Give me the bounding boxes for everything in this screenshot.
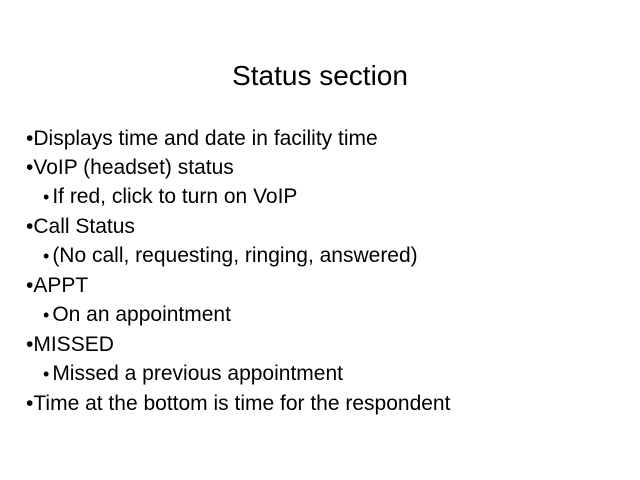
list-item-label: On an appointment [52,303,231,326]
list-item-label: (No call, requesting, ringing, answered) [52,244,417,267]
list-item: •Call Status [0,212,640,241]
bullet-dot-icon: • [43,301,49,330]
list-item: •On an appointment [0,300,640,330]
list-item-label: Displays time and date in facility time [33,127,377,150]
list-item-label: MISSED [33,333,114,356]
list-item: •If red, click to turn on VoIP [0,182,640,212]
list-item-label: Time at the bottom is time for the respo… [33,392,450,415]
slide-canvas: Status section •Displays time and date i… [0,0,640,480]
list-item-label: If red, click to turn on VoIP [52,185,297,208]
bullet-dot-icon: • [43,242,49,271]
bullet-dot-icon: • [43,183,49,212]
list-item: •VoIP (headset) status [0,153,640,182]
page-title: Status section [0,59,640,93]
list-item: •APPT [0,271,640,300]
list-item: •Displays time and date in facility time [0,124,640,153]
bullet-list: •Displays time and date in facility time… [0,124,640,418]
bullet-dot-icon: • [43,360,49,389]
list-item: •(No call, requesting, ringing, answered… [0,241,640,271]
list-item-label: VoIP (headset) status [33,156,233,179]
list-item: •Missed a previous appointment [0,359,640,389]
list-item-label: Missed a previous appointment [52,362,343,385]
list-item-label: APPT [33,274,88,297]
list-item-label: Call Status [33,215,135,238]
list-item: •Time at the bottom is time for the resp… [0,389,640,418]
list-item: •MISSED [0,330,640,359]
